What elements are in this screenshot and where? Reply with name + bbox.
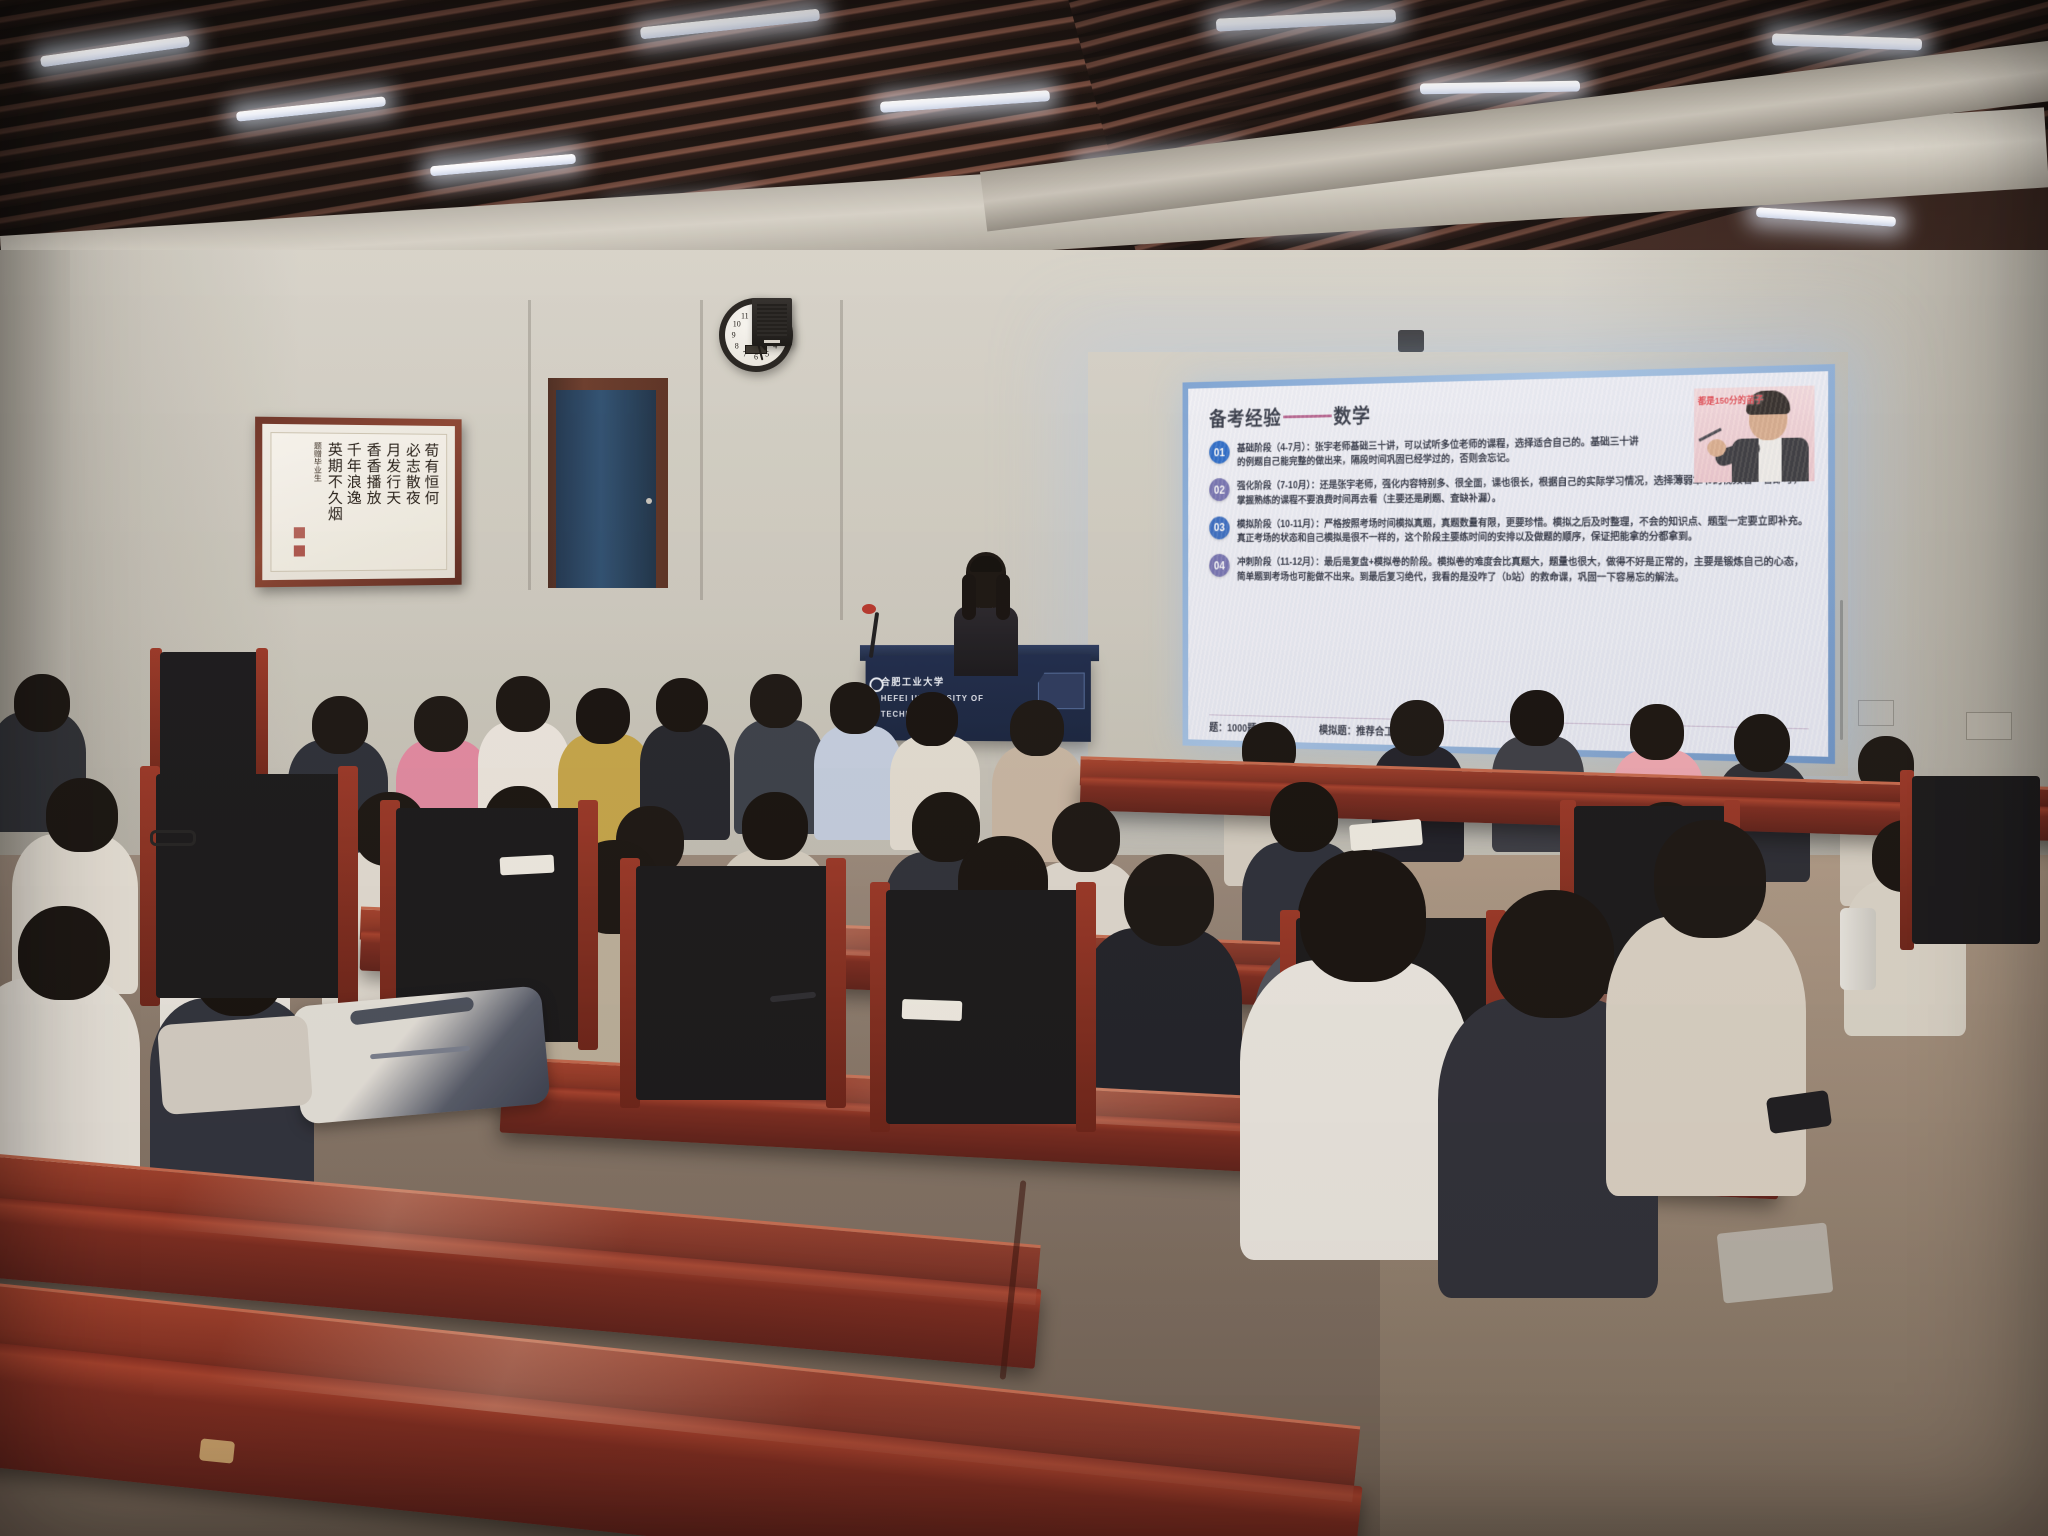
- lecture-hall-photo: 荀有恒何 必志散夜 月发行天 香香播放 千年浪逸 英期不久烟 题赠毕业生 12 …: [0, 0, 2048, 1536]
- chair-rail: [338, 766, 358, 1006]
- glasses: [150, 830, 196, 846]
- student-head: [1300, 850, 1426, 982]
- student-head: [906, 692, 958, 746]
- frame-mat: 荀有恒何 必志散夜 月发行天 香香播放 千年浪逸 英期不久烟 题赠毕业生: [262, 424, 455, 580]
- microphone-head-icon: [862, 604, 876, 614]
- chair-rail: [1076, 882, 1096, 1132]
- student-torso: [814, 726, 902, 840]
- wall-speaker: [752, 298, 792, 346]
- calligraphy-signature: 题赠毕业生: [313, 442, 321, 482]
- slide-bullet: 04 冲刺阶段（11-12月）：最后是复盘+模拟卷的阶段。模拟卷的难度会比真题大…: [1209, 553, 1808, 585]
- slide-title-right: 数学: [1333, 401, 1370, 430]
- student-head: [414, 696, 468, 752]
- speech-bubble-text: 都是150分的苗子: [1698, 393, 1764, 407]
- student-head: [14, 674, 70, 732]
- slide: 备考经验 数学 01 基础阶段（4-7月）：张宇老师基础三十讲，可以试听多位老师…: [1188, 371, 1828, 757]
- presenter-hair-side-left: [962, 574, 976, 620]
- wall-seam: [700, 300, 703, 600]
- calligraphy-frame: 荀有恒何 必志散夜 月发行天 香香播放 千年浪逸 英期不久烟 题赠毕业生: [255, 417, 462, 588]
- bullet-body: 冲刺阶段（11-12月）：最后是复盘+模拟卷的阶段。模拟卷的难度会比真题大，题量…: [1237, 553, 1809, 585]
- bullet-number-badge: 03: [1209, 516, 1229, 539]
- bullet-body: 模拟阶段（10-11月）：严格按照考场时间模拟真题，真题数量有限，更要珍惜。模拟…: [1237, 512, 1809, 546]
- wall-seam: [528, 300, 531, 590]
- seal-stamp-icon: [294, 545, 305, 556]
- student-head: [1510, 690, 1564, 746]
- student-head: [1010, 700, 1064, 756]
- chair-rail: [826, 858, 846, 1108]
- student-torso: [1240, 960, 1470, 1260]
- clock-numeral: 9: [732, 331, 736, 340]
- bullet-lead: 冲刺阶段（11-12月）：: [1237, 557, 1324, 568]
- clock-numeral: 6: [754, 353, 758, 362]
- frame-inner: 荀有恒何 必志散夜 月发行天 香香播放 千年浪逸 英期不久烟 题赠毕业生: [270, 432, 447, 572]
- student-head: [1492, 890, 1614, 1018]
- slide-title-left: 备考经验: [1209, 403, 1281, 432]
- student-torso: [1606, 916, 1806, 1196]
- chair-back: [1912, 776, 2040, 944]
- student-head: [750, 674, 802, 728]
- student-head: [1052, 802, 1120, 872]
- student-head: [656, 678, 708, 732]
- cable-conduit: [1840, 600, 1843, 740]
- wall-outlet-box: [1966, 712, 2012, 740]
- bullet-lead: 基础阶段（4-7月）：: [1237, 442, 1315, 454]
- seal-stamp-icon: [294, 527, 305, 538]
- chair: [140, 766, 360, 1006]
- speaker-badge: [764, 340, 780, 343]
- student-head: [1734, 714, 1790, 772]
- teacher-photo-card: 都是150分的苗子: [1694, 386, 1814, 483]
- calligraphy-text: 荀有恒何 必志散夜 月发行天 香香播放 千年浪逸 英期不久烟 题赠毕业生: [290, 441, 439, 564]
- student-head: [1270, 782, 1338, 852]
- title-dash-icon: [1283, 414, 1332, 418]
- water-bottle: [1840, 908, 1876, 990]
- student-head: [1630, 704, 1684, 760]
- chair: [1900, 770, 2048, 950]
- presenter-hair-side-right: [996, 574, 1010, 620]
- bullet-lead: 强化阶段（7-10月）：: [1237, 480, 1320, 492]
- student-head: [46, 778, 118, 852]
- lectern-line1: 合肥工业大学: [881, 677, 945, 688]
- student-head: [742, 792, 808, 860]
- slide-bullet: 03 模拟阶段（10-11月）：严格按照考场时间模拟真题，真题数量有限，更要珍惜…: [1209, 512, 1808, 546]
- chair-back: [156, 774, 344, 998]
- student-head: [1124, 854, 1214, 946]
- chair-rail: [578, 800, 598, 1050]
- chair-back: [636, 866, 832, 1100]
- student-head: [1654, 820, 1766, 938]
- calligraphy-column: 荀有恒何: [423, 443, 438, 507]
- clock-numeral: 10: [733, 319, 741, 328]
- student-head: [312, 696, 368, 754]
- desk-hinge: [199, 1438, 235, 1463]
- bullet-number-badge: 04: [1209, 554, 1229, 577]
- jacket-on-chair: [157, 1015, 313, 1115]
- student-head: [830, 682, 880, 734]
- wall-seam: [840, 300, 843, 620]
- student-head: [496, 676, 550, 732]
- clock-numeral: 11: [741, 311, 749, 320]
- presenter-hair-front: [970, 556, 1002, 572]
- speaker-grille: [757, 304, 787, 336]
- ceiling-camera: [1398, 330, 1424, 352]
- projection-screen: 备考经验 数学 01 基础阶段（4-7月）：张宇老师基础三十讲，可以试听多位老师…: [1183, 364, 1835, 764]
- notebook: [902, 999, 963, 1021]
- calligraphy-column: 千年浪逸: [345, 442, 361, 506]
- chair-back: [160, 652, 260, 784]
- student-head: [576, 688, 630, 744]
- presenter: [952, 552, 1020, 672]
- clock-numeral: 8: [735, 342, 739, 351]
- wall-outlet-box: [1858, 700, 1894, 726]
- bullet-body: 基础阶段（4-7月）：张宇老师基础三十讲，可以试听多位老师的课程，选择适合自己的…: [1237, 433, 1643, 470]
- classroom-door[interactable]: [556, 390, 656, 588]
- photo-teacher-shirt: [1759, 438, 1782, 483]
- student-head: [1390, 700, 1444, 756]
- chair: [620, 858, 850, 1108]
- calligraphy-column: 月发行天: [384, 442, 399, 506]
- bullet-lead: 模拟阶段（10-11月）：: [1237, 518, 1324, 530]
- bullet-number-badge: 02: [1209, 478, 1229, 501]
- calligraphy-column: 香香播放: [365, 442, 381, 506]
- calligraphy-column: 英期不久烟: [326, 442, 342, 523]
- door-knob-icon[interactable]: [646, 498, 652, 504]
- notebook: [500, 855, 555, 876]
- bullet-number-badge: 01: [1209, 441, 1229, 464]
- student-head: [18, 906, 110, 1000]
- laptop: [1717, 1222, 1834, 1303]
- calligraphy-column: 必志散夜: [404, 442, 419, 506]
- slide-bullet: 01 基础阶段（4-7月）：张宇老师基础三十讲，可以试听多位老师的课程，选择适合…: [1209, 433, 1643, 471]
